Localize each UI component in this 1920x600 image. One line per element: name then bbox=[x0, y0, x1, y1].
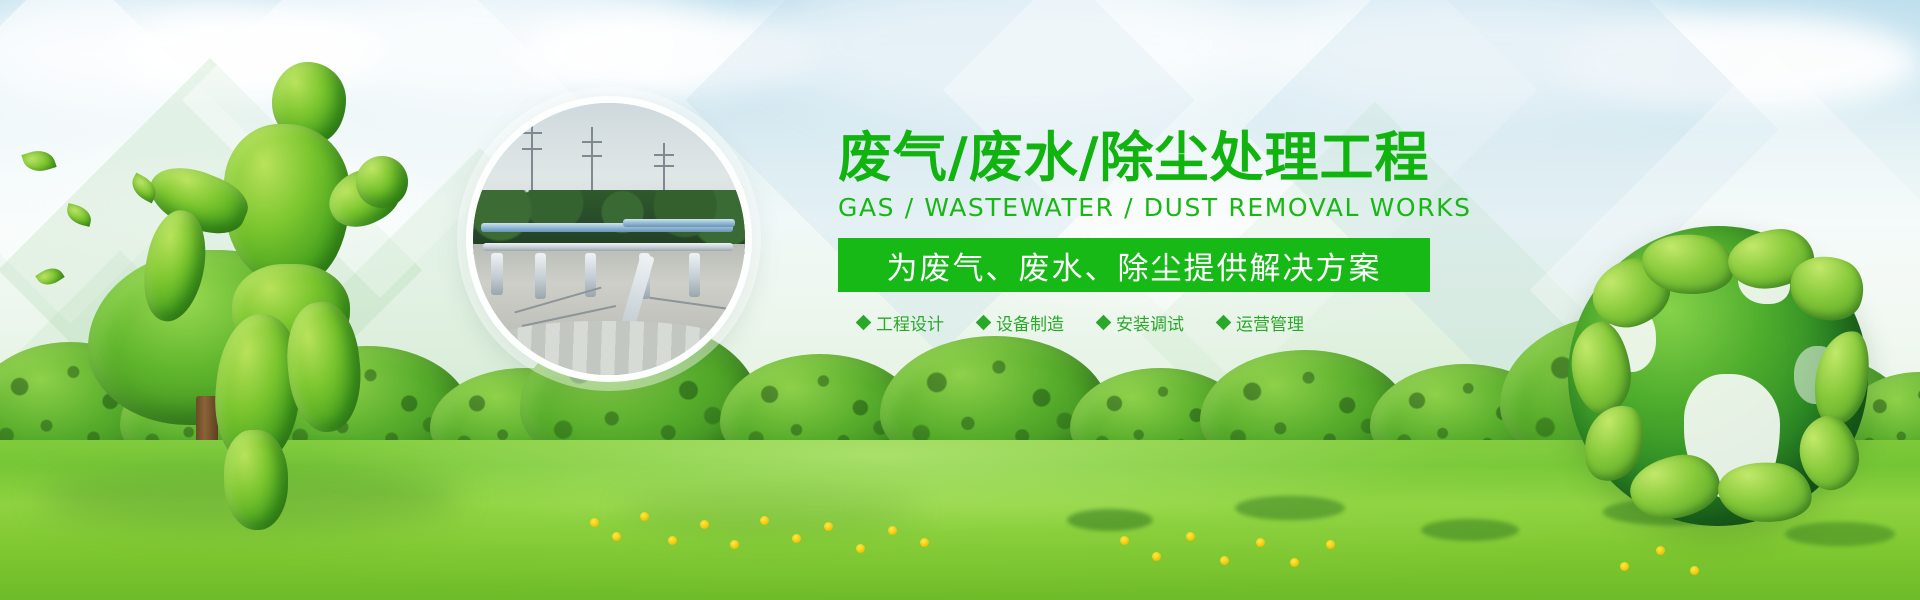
yellow-flower bbox=[668, 536, 677, 545]
yellow-flower bbox=[590, 518, 599, 527]
feature-item-operation-management[interactable]: 运营管理 bbox=[1218, 310, 1304, 335]
yellow-flower bbox=[760, 516, 769, 525]
yellow-flower bbox=[792, 534, 801, 543]
slogan-bar: 为废气、废水、除尘提供解决方案 bbox=[838, 238, 1430, 292]
yellow-flower bbox=[1256, 538, 1265, 547]
yellow-flower bbox=[700, 520, 709, 529]
green-leaf-globe bbox=[1568, 226, 1868, 526]
feature-item-equipment-manufacturing[interactable]: 设备制造 bbox=[978, 310, 1064, 335]
page-subtitle-english: GAS / WASTEWATER / DUST REMOVAL WORKS bbox=[838, 193, 1478, 222]
page-title: 废气/废水/除尘处理工程 bbox=[838, 130, 1478, 185]
yellow-flower bbox=[1656, 546, 1665, 555]
photo-pipe bbox=[623, 219, 735, 227]
yellow-flower bbox=[856, 544, 865, 553]
grass-shadow bbox=[620, 488, 920, 532]
eco-engineering-hero-banner: 废气/废水/除尘处理工程 GAS / WASTEWATER / DUST REM… bbox=[0, 0, 1920, 600]
photo-pipe bbox=[483, 243, 733, 251]
yellow-flower bbox=[612, 532, 621, 541]
feature-label: 设备制造 bbox=[996, 310, 1064, 335]
feature-item-engineering-design[interactable]: 工程设计 bbox=[858, 310, 944, 335]
feature-item-installation-commissioning[interactable]: 安装调试 bbox=[1098, 310, 1184, 335]
slogan-text: 为废气、废水、除尘提供解决方案 bbox=[887, 243, 1382, 288]
photo-settling-basin bbox=[466, 321, 752, 381]
yellow-flower bbox=[1152, 552, 1161, 561]
runner-fist-front bbox=[356, 156, 408, 208]
yellow-flower bbox=[1620, 562, 1629, 571]
yellow-flower bbox=[888, 526, 897, 535]
yellow-flower bbox=[640, 512, 649, 521]
yellow-flower bbox=[730, 540, 739, 549]
feature-label: 安装调试 bbox=[1116, 310, 1184, 335]
photo-pipe bbox=[689, 253, 700, 297]
feature-list: 工程设计 设备制造 安装调试 运营管理 bbox=[838, 310, 1478, 335]
runner-shin bbox=[224, 430, 288, 530]
leaf-man-running-figure bbox=[120, 52, 420, 522]
yellow-flower bbox=[1690, 566, 1699, 575]
diamond-bullet-icon bbox=[976, 315, 992, 331]
yellow-flower bbox=[1326, 540, 1335, 549]
yellow-flower bbox=[1186, 532, 1195, 541]
feature-label: 工程设计 bbox=[876, 310, 944, 335]
banner-text-block: 废气/废水/除尘处理工程 GAS / WASTEWATER / DUST REM… bbox=[838, 130, 1478, 335]
photo-pipe bbox=[535, 253, 546, 299]
diamond-bullet-icon bbox=[1096, 315, 1112, 331]
wastewater-treatment-plant-photo bbox=[466, 96, 752, 382]
yellow-flower bbox=[920, 538, 929, 547]
diamond-bullet-icon bbox=[1216, 315, 1232, 331]
yellow-flower bbox=[1290, 558, 1299, 567]
photo-pipe bbox=[491, 253, 503, 295]
diamond-bullet-icon bbox=[856, 315, 872, 331]
yellow-flower bbox=[824, 522, 833, 531]
yellow-flower bbox=[1220, 556, 1229, 565]
yellow-flower bbox=[1120, 536, 1129, 545]
feature-label: 运营管理 bbox=[1236, 310, 1304, 335]
